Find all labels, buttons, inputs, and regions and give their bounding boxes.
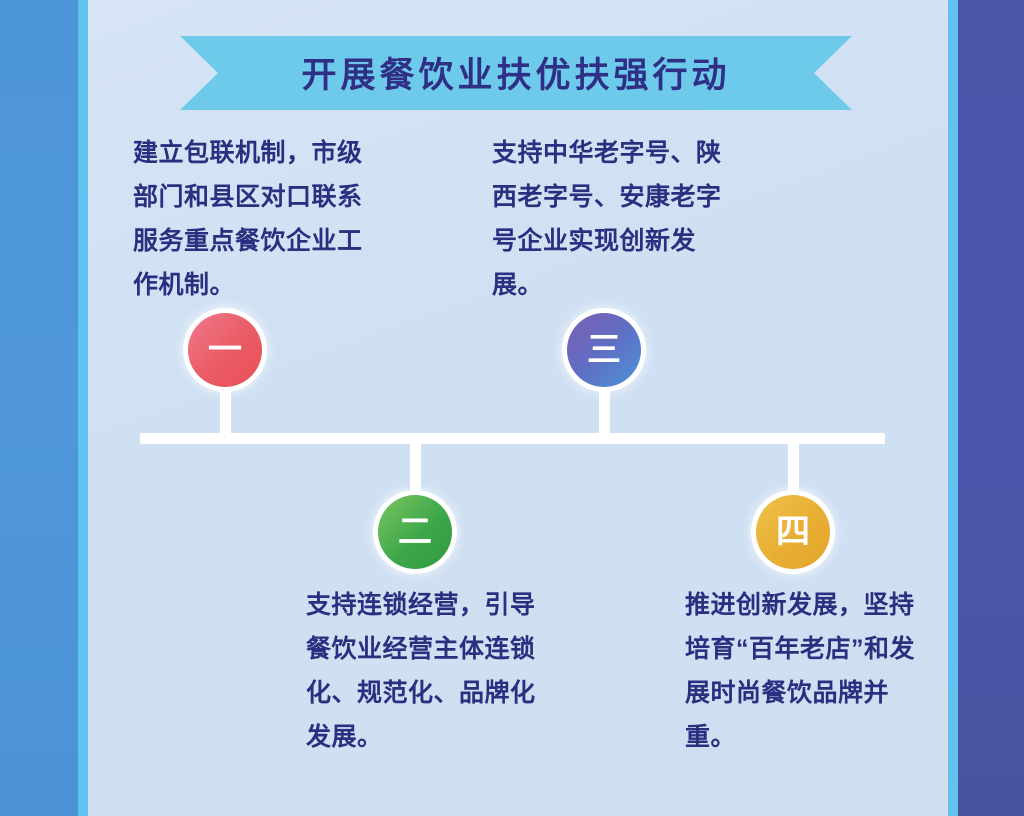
timeline-axis (140, 433, 885, 444)
item-text-4: 推进创新发展，坚持培育“百年老店”和发展时尚餐饮品牌并重。 (685, 583, 935, 759)
page-title: 开展餐饮业扶优扶强行动 (180, 36, 852, 110)
number-badge-1: 一 (188, 313, 262, 387)
title-ribbon-banner: 开展餐饮业扶优扶强行动 (180, 36, 852, 110)
infographic-poster: 开展餐饮业扶优扶强行动 一 二 三 四 建立包联机制，市级部门和县区对口联系服务… (0, 0, 1024, 816)
number-badge-2: 二 (378, 495, 452, 569)
item-text-3: 支持中华老字号、陕西老字号、安康老字号企业实现创新发展。 (492, 131, 742, 307)
right-decorative-band (958, 0, 1024, 816)
right-cyan-stripe (948, 0, 958, 816)
left-decorative-band (0, 0, 78, 816)
item-text-1: 建立包联机制，市级部门和县区对口联系服务重点餐饮企业工作机制。 (133, 131, 378, 307)
connector-line-4 (788, 440, 799, 502)
item-text-2: 支持连锁经营，引导餐饮业经营主体连锁化、规范化、品牌化发展。 (306, 583, 556, 759)
number-badge-4: 四 (756, 495, 830, 569)
number-badge-3: 三 (567, 313, 641, 387)
left-cyan-stripe (78, 0, 88, 816)
connector-line-2 (410, 440, 421, 502)
